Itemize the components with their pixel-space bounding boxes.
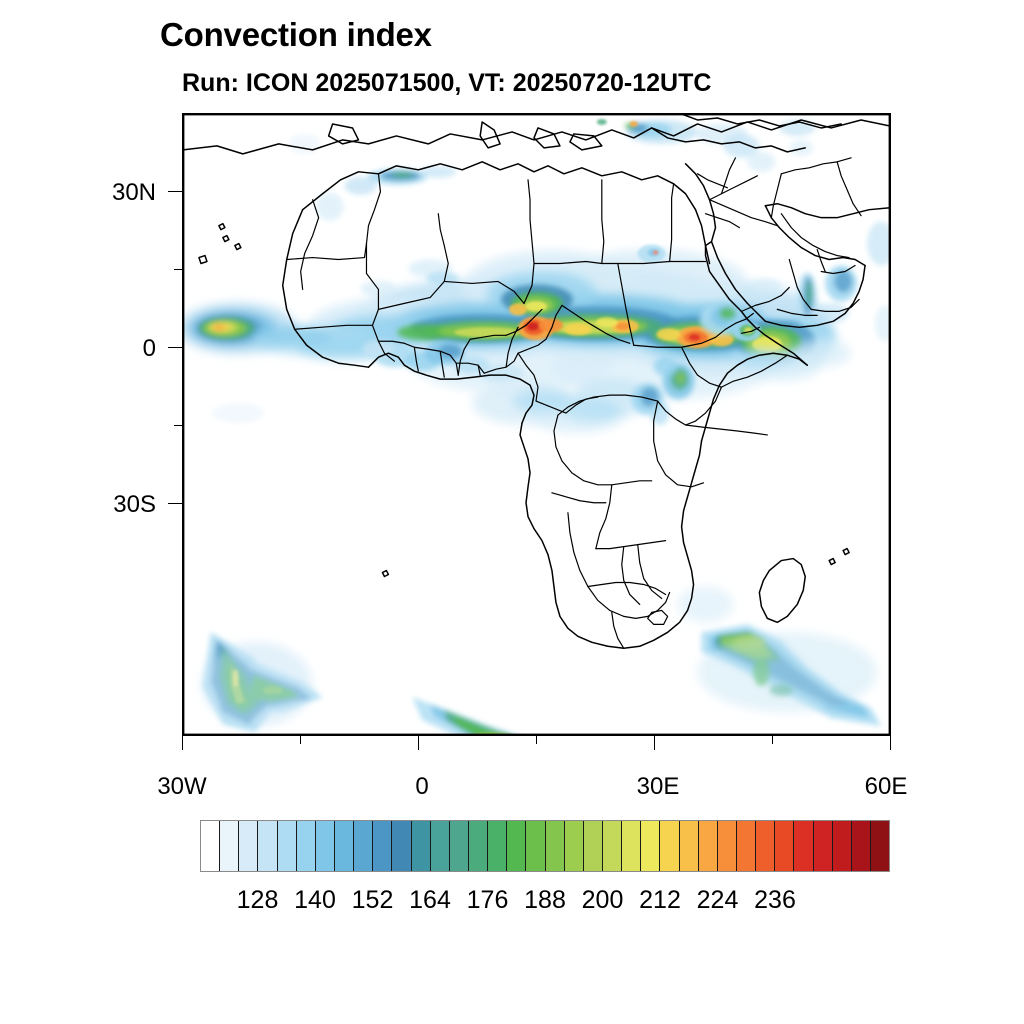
y-tick-30N (168, 191, 182, 192)
x-tick-30W (182, 736, 183, 750)
colorbar-tick-212: 212 (639, 886, 681, 915)
colorbar-cell-5 (297, 821, 316, 871)
colorbar-cell-29 (756, 821, 775, 871)
colorbar-cell-3 (258, 821, 277, 871)
colorbar[interactable] (200, 820, 890, 872)
page-title: Convection index (160, 16, 432, 54)
colorbar-cell-26 (699, 821, 718, 871)
colorbar-cell-20 (584, 821, 603, 871)
map-plot-area[interactable] (182, 113, 891, 736)
colorbar-cell-19 (565, 821, 584, 871)
x-axis-label-30E: 30E (637, 773, 680, 801)
colorbar-cell-24 (660, 821, 679, 871)
colorbar-cell-28 (737, 821, 756, 871)
colorbar-cell-32 (814, 821, 833, 871)
colorbar-tick-236: 236 (754, 886, 796, 915)
colorbar-cell-22 (622, 821, 641, 871)
y-tick-15N (174, 269, 182, 270)
x-tick-0 (418, 736, 419, 750)
colorbar-tick-152: 152 (352, 886, 394, 915)
y-axis-label-0: 0 (96, 335, 156, 363)
colorbar-tick-140: 140 (294, 886, 336, 915)
colorbar-cell-2 (239, 821, 258, 871)
colorbar-cell-9 (373, 821, 392, 871)
colorbar-cell-35 (871, 821, 889, 871)
x-tick-60E (890, 736, 891, 750)
colorbar-cell-23 (641, 821, 660, 871)
figure-subtitle: Run: ICON 2025071500, VT: 20250720-12UTC (182, 69, 711, 98)
y-tick-0 (168, 347, 182, 348)
colorbar-cell-33 (833, 821, 852, 871)
colorbar-cell-1 (220, 821, 239, 871)
colorbar-tick-224: 224 (697, 886, 739, 915)
colorbar-cell-10 (392, 821, 411, 871)
colorbar-tick-164: 164 (409, 886, 451, 915)
colorbar-cell-14 (469, 821, 488, 871)
colorbar-cell-15 (488, 821, 507, 871)
colorbar-cell-34 (852, 821, 871, 871)
colorbar-cell-27 (718, 821, 737, 871)
colorbar-cell-31 (794, 821, 813, 871)
x-axis-label-60E: 60E (865, 773, 908, 801)
figure-root: Convection index Run: ICON 2025071500, V… (0, 0, 1024, 1024)
x-tick-45E (772, 736, 773, 744)
colorbar-cell-18 (546, 821, 565, 871)
colorbar-cell-16 (507, 821, 526, 871)
colorbar-cell-12 (431, 821, 450, 871)
colorbar-cell-4 (278, 821, 297, 871)
colorbar-cell-17 (526, 821, 545, 871)
colorbar-cell-0 (201, 821, 220, 871)
y-tick-15S (174, 425, 182, 426)
x-axis-label-0: 0 (415, 773, 428, 801)
colorbar-cell-8 (354, 821, 373, 871)
x-tick-15E (536, 736, 537, 744)
y-tick-30S (168, 503, 182, 504)
colorbar-cell-13 (450, 821, 469, 871)
y-axis-label-30S: 30S (96, 491, 156, 519)
colorbar-tick-128: 128 (237, 886, 279, 915)
colorbar-cell-7 (335, 821, 354, 871)
colorbar-tick-200: 200 (582, 886, 624, 915)
colorbar-cell-11 (412, 821, 431, 871)
x-tick-15W (300, 736, 301, 744)
colorbar-cell-6 (316, 821, 335, 871)
y-axis-label-30N: 30N (96, 179, 156, 207)
colorbar-cell-25 (680, 821, 699, 871)
colorbar-cell-30 (775, 821, 794, 871)
colorbar-cell-21 (603, 821, 622, 871)
x-axis-label-30W: 30W (157, 773, 206, 801)
colorbar-tick-188: 188 (524, 886, 566, 915)
x-tick-30E (654, 736, 655, 750)
colorbar-tick-176: 176 (467, 886, 509, 915)
map-canvas (183, 114, 890, 735)
